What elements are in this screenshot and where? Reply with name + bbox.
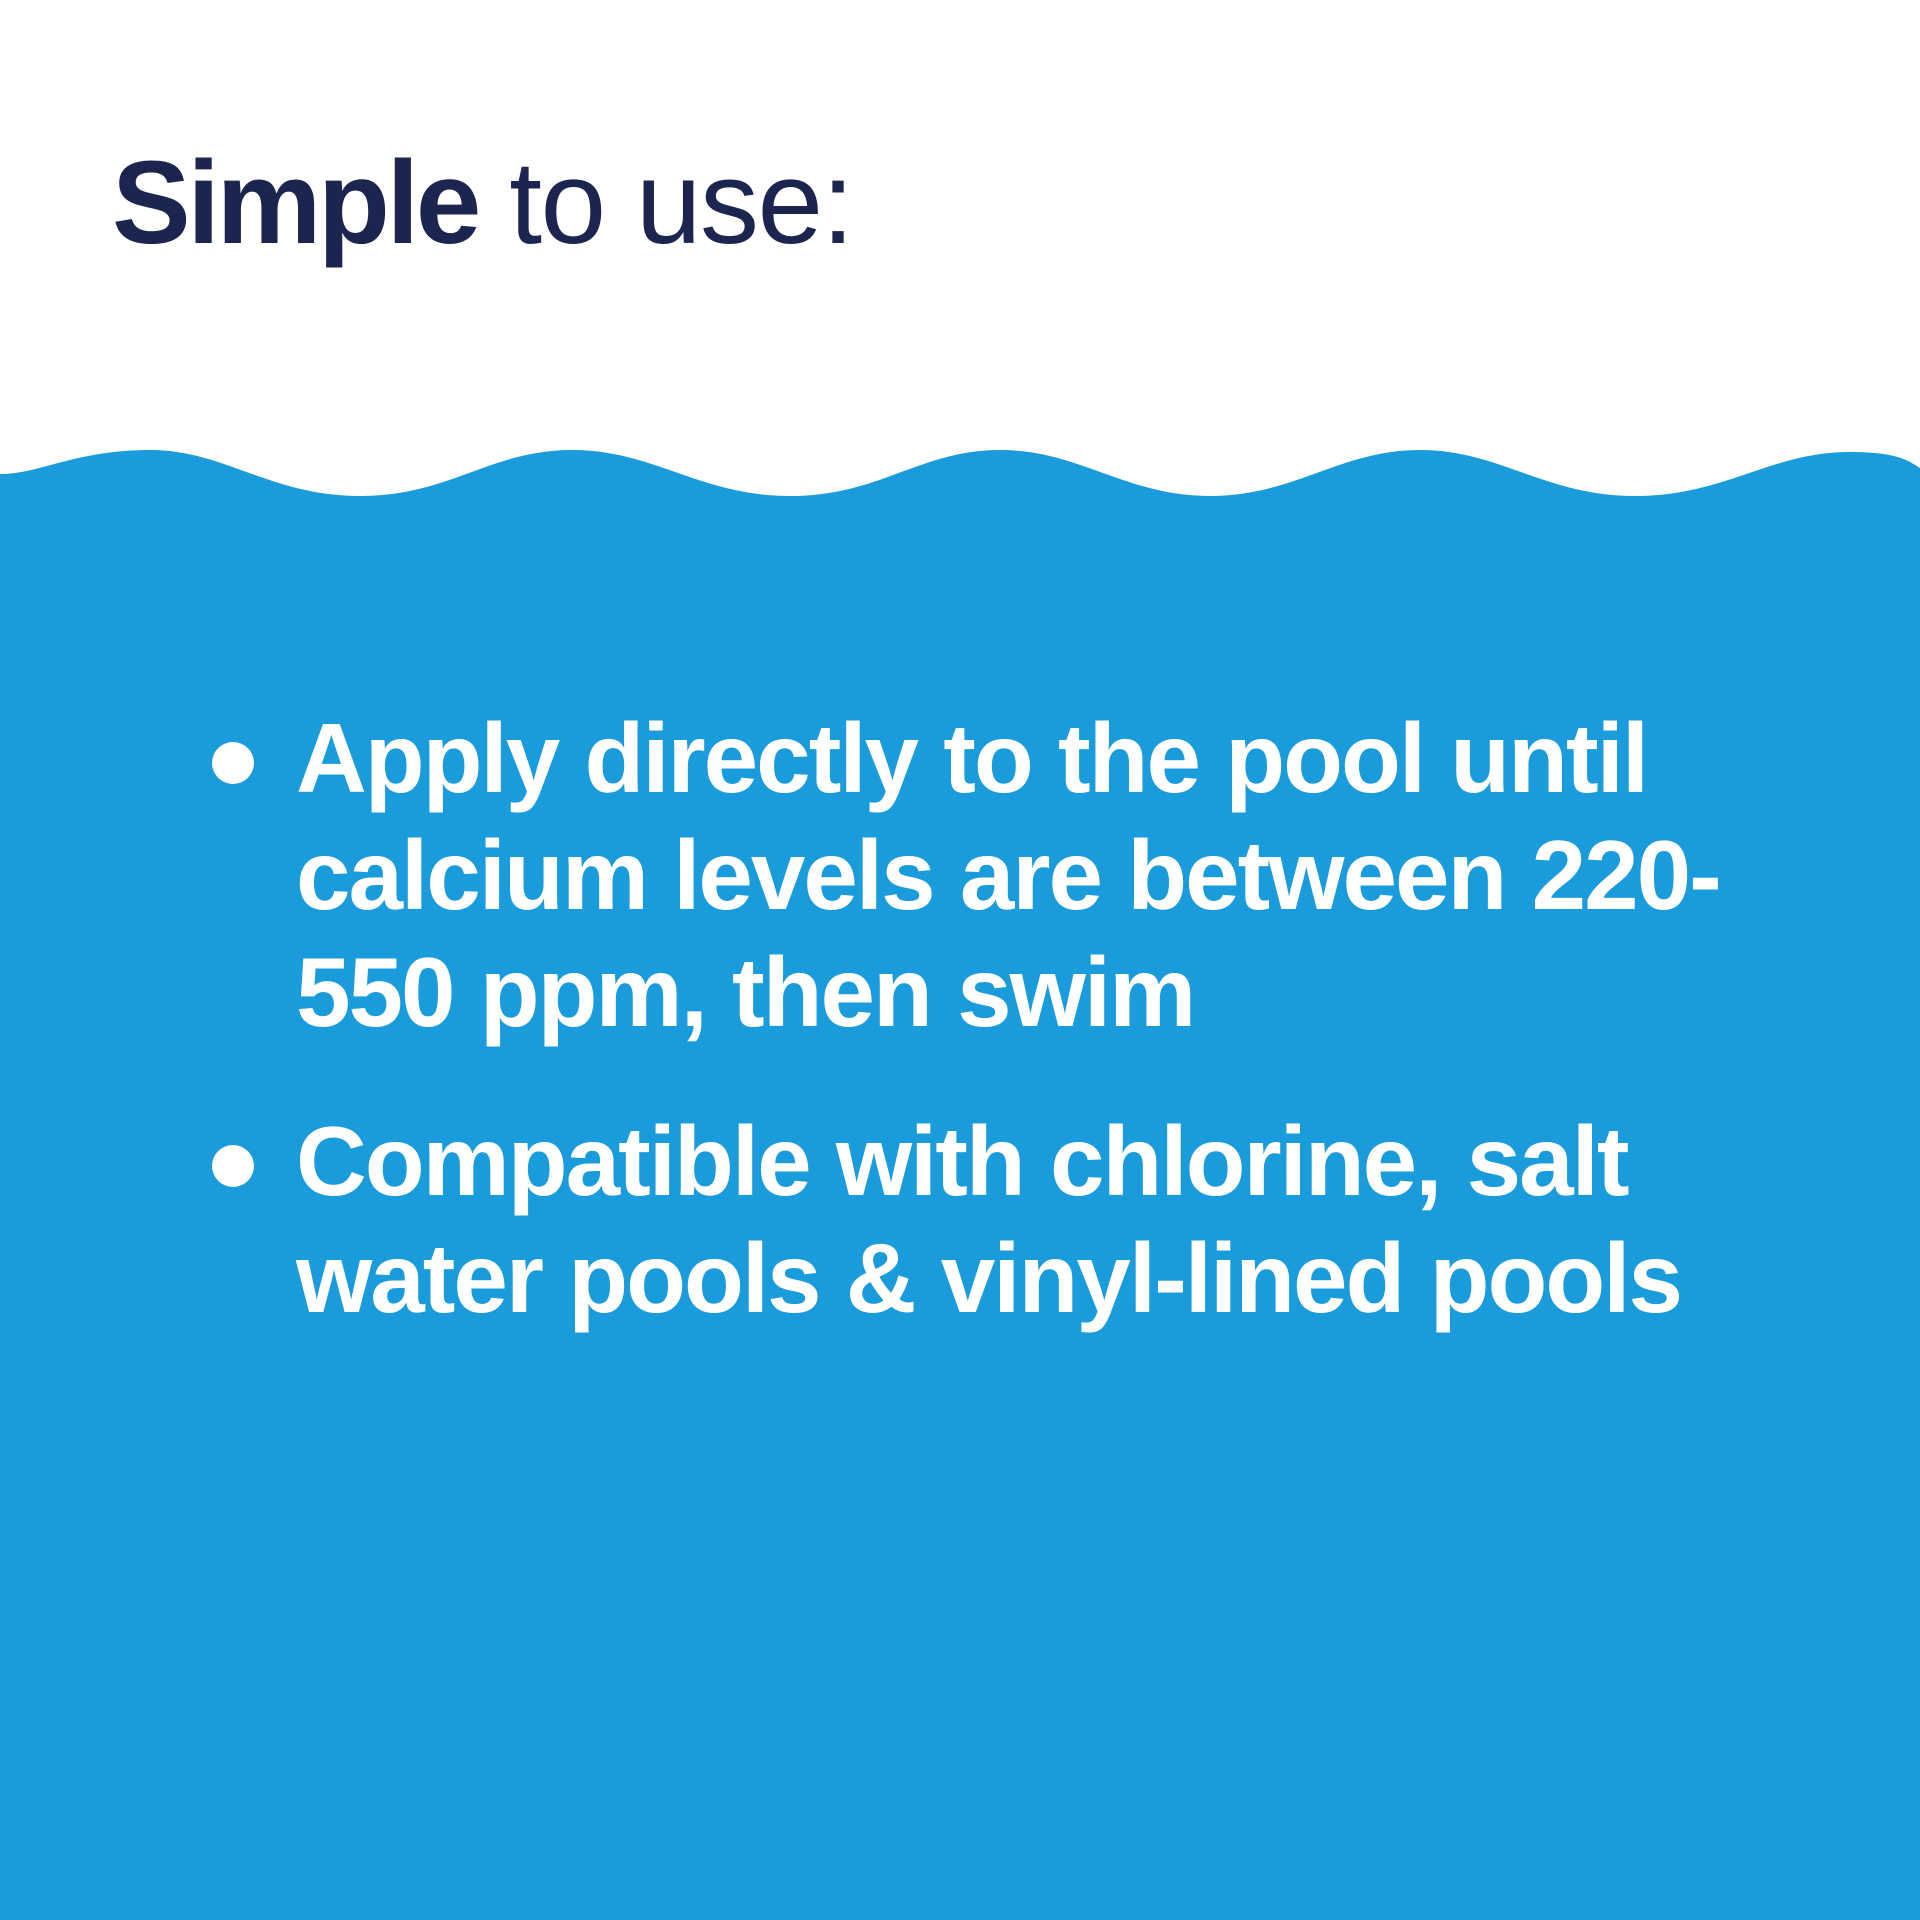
instruction-bullet-list: Apply directly to the pool until calcium… <box>186 700 1786 1337</box>
list-item-label: Apply directly to the pool until calcium… <box>296 700 1786 1051</box>
header-band: Simple to use: <box>0 0 1920 450</box>
bullet-dot-icon <box>212 742 254 784</box>
list-item-label: Compatible with chlorine, salt water poo… <box>296 1103 1786 1337</box>
list-item: Apply directly to the pool until calcium… <box>186 700 1786 1051</box>
page-title-strong: Simple <box>112 137 478 269</box>
page-title-regular: to use: <box>478 137 853 269</box>
bullet-dot-icon <box>212 1145 254 1187</box>
infographic-canvas: Simple to use: Apply directly to the poo… <box>0 0 1920 1920</box>
list-item: Compatible with chlorine, salt water poo… <box>186 1103 1786 1337</box>
page-title: Simple to use: <box>112 138 853 268</box>
